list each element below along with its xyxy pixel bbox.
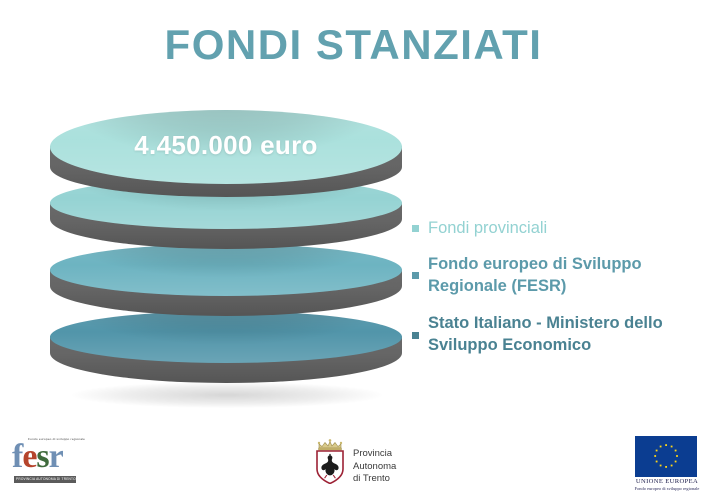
square-bullet-icon (412, 332, 419, 339)
eu-logo-name: UNIONE EUROPEA (631, 478, 703, 485)
provincia-logo-line1: Provincia (353, 448, 396, 461)
fesr-logo-bottom-text: PROVINCIA AUTONOMA DI TRENTO (16, 477, 76, 481)
fesr-logo-wordmark: fesr (12, 440, 63, 474)
european-union-logo: UNIONE EUROPEA Fondo europeo di sviluppo… (631, 436, 703, 490)
disc-cap-gloss (50, 311, 402, 363)
legend-item-label: Stato Italiano - Ministero dello Svilupp… (428, 313, 700, 357)
provincia-logo-text: Provincia Autonoma di Trento (353, 448, 396, 486)
disc-cap-gloss (50, 244, 402, 296)
page-title: FONDI STANZIATI (0, 22, 707, 68)
legend-item-fondi-provinciali: Fondi provinciali (412, 218, 700, 240)
trento-crest-icon (313, 438, 347, 484)
legend-item-label: Fondo europeo di Sviluppo Regionale (FES… (428, 254, 700, 298)
footer-logo-strip: Fondo europeo di sviluppo regionale fesr… (0, 422, 707, 500)
funding-stack-chart: 4.450.000 euro (50, 110, 402, 400)
legend-item-label: Fondi provinciali (428, 218, 700, 240)
eu-logo-subtitle: Fondo europeo di sviluppo regionale (631, 486, 703, 491)
stack-drop-shadow (72, 382, 382, 408)
total-amount-label: 4.450.000 euro (50, 130, 402, 161)
fesr-logo: Fondo europeo di sviluppo regionale fesr… (10, 436, 92, 490)
provincia-logo-line2: Autonoma (353, 461, 396, 474)
square-bullet-icon (412, 225, 419, 232)
legend-item-stato-italiano: Stato Italiano - Ministero dello Svilupp… (412, 313, 700, 357)
eu-stars-icon (635, 436, 697, 477)
funding-sources-legend: Fondi provinciali Fondo europeo di Svilu… (412, 218, 700, 371)
provincia-logo-line3: di Trento (353, 473, 396, 486)
legend-item-fesr: Fondo europeo di Sviluppo Regionale (FES… (412, 254, 700, 298)
square-bullet-icon (412, 272, 419, 279)
provincia-autonoma-di-trento-logo: Provincia Autonoma di Trento (313, 436, 423, 488)
eu-flag-icon (635, 436, 697, 477)
